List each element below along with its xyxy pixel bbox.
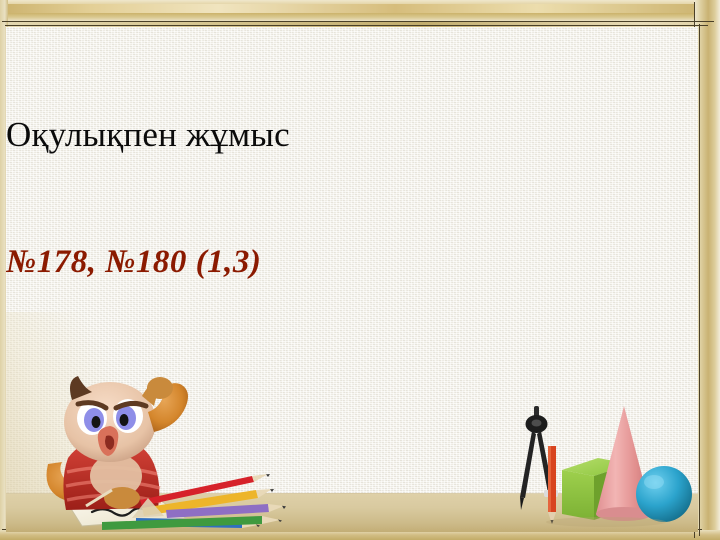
- pencil-green: [102, 516, 282, 530]
- frame-top-highlight: [6, 4, 714, 13]
- presentation-slide: Оқулықпен жұмыс №178, №180 (1,3): [0, 0, 720, 540]
- compass-pencil: [548, 446, 556, 524]
- sphere: [636, 466, 692, 522]
- frame-rule-top: [2, 21, 714, 22]
- pencils-svg: [102, 470, 322, 532]
- owl-pupil-left: [92, 416, 101, 428]
- frame-rule-right-inner: [699, 24, 700, 536]
- slide-canvas: Оқулықпен жұмыс №178, №180 (1,3): [6, 27, 698, 532]
- slide-subtitle: №178, №180 (1,3): [6, 242, 698, 282]
- geometry-svg: [506, 402, 698, 532]
- objects-shadow: [546, 517, 666, 527]
- geometry-objects-group: [506, 402, 698, 532]
- owl-right-hand: [147, 377, 173, 399]
- owl-pupil-right: [120, 414, 129, 426]
- slide-title: Оқулықпен жұмыс: [6, 115, 698, 155]
- frame-rule-top-inner: [5, 25, 708, 26]
- colored-pencils-group: [102, 470, 322, 532]
